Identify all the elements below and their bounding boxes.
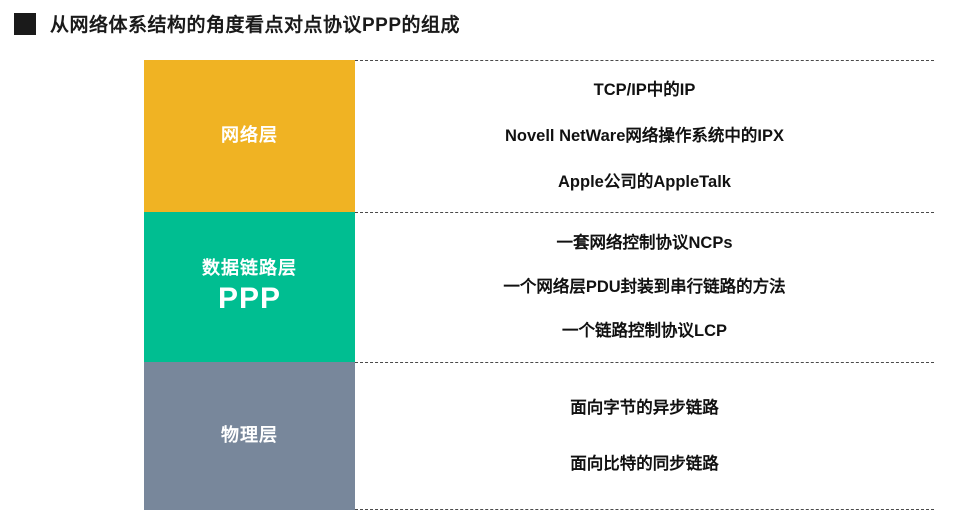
- list-item: 一个网络层PDU封装到串行链路的方法: [503, 276, 785, 298]
- layer-box-network: 网络层: [144, 60, 355, 212]
- layer-name-physical: 物理层: [221, 425, 278, 447]
- layer-name-data-link: 数据链路层: [202, 258, 297, 280]
- diagram-row-data-link-layer: 数据链路层 PPP 一套网络控制协议NCPs 一个网络层PDU封装到串行链路的方…: [144, 212, 934, 362]
- list-item: 一个链路控制协议LCP: [562, 320, 727, 342]
- page-title: 从网络体系结构的角度看点对点协议PPP的组成: [14, 10, 460, 37]
- separator-bottom: [355, 509, 934, 510]
- list-item: TCP/IP中的IP: [594, 79, 696, 101]
- items-data-link: 一套网络控制协议NCPs 一个网络层PDU封装到串行链路的方法 一个链路控制协议…: [355, 212, 934, 362]
- diagram-row-network-layer: 网络层 TCP/IP中的IP Novell NetWare网络操作系统中的IPX…: [144, 60, 934, 212]
- layer-name-network: 网络层: [221, 125, 278, 147]
- title-bullet-marker: [14, 13, 36, 35]
- list-item: Apple公司的AppleTalk: [558, 171, 731, 193]
- separator-top: [355, 60, 934, 61]
- items-network: TCP/IP中的IP Novell NetWare网络操作系统中的IPX App…: [355, 60, 934, 212]
- list-item: Novell NetWare网络操作系统中的IPX: [505, 125, 784, 147]
- layer-protocol-ppp: PPP: [218, 282, 281, 317]
- diagram-row-physical-layer: 物理层 面向字节的异步链路 面向比特的同步链路: [144, 362, 934, 510]
- items-physical: 面向字节的异步链路 面向比特的同步链路: [355, 362, 934, 510]
- list-item: 面向字节的异步链路: [570, 397, 719, 419]
- list-item: 面向比特的同步链路: [570, 453, 719, 475]
- ppp-architecture-diagram: 网络层 TCP/IP中的IP Novell NetWare网络操作系统中的IPX…: [144, 60, 934, 510]
- page-title-text: 从网络体系结构的角度看点对点协议PPP的组成: [50, 10, 460, 37]
- layer-box-data-link: 数据链路层 PPP: [144, 212, 355, 362]
- layer-box-physical: 物理层: [144, 362, 355, 510]
- separator-middle-upper: [355, 212, 934, 213]
- separator-middle-lower: [355, 362, 934, 363]
- list-item: 一套网络控制协议NCPs: [556, 232, 732, 254]
